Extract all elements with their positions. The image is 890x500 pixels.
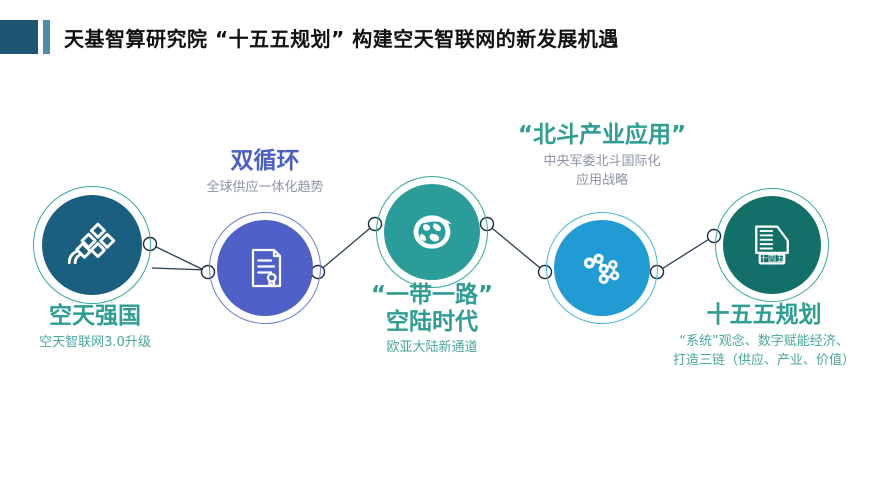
node-3-title-line-2: 空陆时代: [337, 309, 527, 336]
connector-segment-4: [657, 236, 714, 272]
node-5[interactable]: 十四五: [715, 188, 829, 302]
node-3-title: “一带一路”: [337, 282, 527, 309]
plan-document-icon: 十四五: [744, 217, 800, 273]
node-2-subtitle-line-1: 全球供应一体化趋势: [165, 179, 365, 198]
plan-document-icon-text: 十四五: [760, 254, 785, 264]
node-4-subtitle-line-1: 中央军委北斗国际化: [487, 153, 717, 172]
node-1-disc[interactable]: [42, 195, 142, 295]
node-5-subtitle-line-2: 打造三链（供应、产业、价值）: [638, 352, 890, 371]
node-3-disc[interactable]: [384, 184, 480, 280]
node-3-label: “一带一路” 空陆时代 欧亚大陆新通道: [337, 282, 527, 358]
node-4-title: “北斗产业应用”: [487, 122, 717, 149]
node-4-subtitle-line-2: 应用战略: [487, 172, 717, 191]
certificate-document-icon: [241, 244, 289, 292]
node-2-subtitle: 全球供应一体化趋势: [165, 179, 365, 198]
node-2[interactable]: [209, 212, 321, 324]
node-5-disc[interactable]: 十四五: [723, 196, 821, 294]
node-1-label: 空天强国 空天智联网3.0升级: [0, 303, 190, 353]
node-5-title: 十五五规划: [638, 302, 890, 329]
connector-segment-3: [487, 224, 545, 272]
node-4-disc[interactable]: [554, 220, 650, 316]
connector-segment-2: [318, 224, 375, 272]
node-5-label: 十五五规划 “系统”观念、数字赋能经济、 打造三链（供应、产业、价值）: [638, 302, 890, 370]
node-3-subtitle: 欧亚大陆新通道: [337, 339, 527, 358]
globe-icon: [404, 204, 460, 260]
node-5-subtitle-line-1: “系统”观念、数字赋能经济、: [638, 333, 890, 352]
connector-line-1-2: [152, 268, 207, 270]
node-2-label: 双循环 全球供应一体化趋势: [165, 148, 365, 198]
node-5-subtitle: “系统”观念、数字赋能经济、 打造三链（供应、产业、价值）: [638, 333, 890, 371]
slide-canvas: 天基智算研究院 “十五五规划” 构建空天智联网的新发展机遇: [0, 0, 890, 500]
node-1-subtitle: 空天智联网3.0升级: [0, 334, 190, 353]
node-4-subtitle: 中央军委北斗国际化 应用战略: [487, 153, 717, 191]
satellite-icon: [65, 218, 119, 272]
node-1[interactable]: [33, 186, 151, 304]
node-4-label: “北斗产业应用” 中央军委北斗国际化 应用战略: [487, 122, 717, 190]
node-3-subtitle-line-1: 欧亚大陆新通道: [337, 339, 527, 358]
node-1-subtitle-line-1: 空天智联网3.0升级: [0, 334, 190, 353]
node-3[interactable]: [376, 176, 488, 288]
node-2-disc[interactable]: [217, 220, 313, 316]
network-nodes-icon: [575, 241, 629, 295]
node-1-title: 空天强国: [0, 303, 190, 330]
node-2-title: 双循环: [165, 148, 365, 175]
